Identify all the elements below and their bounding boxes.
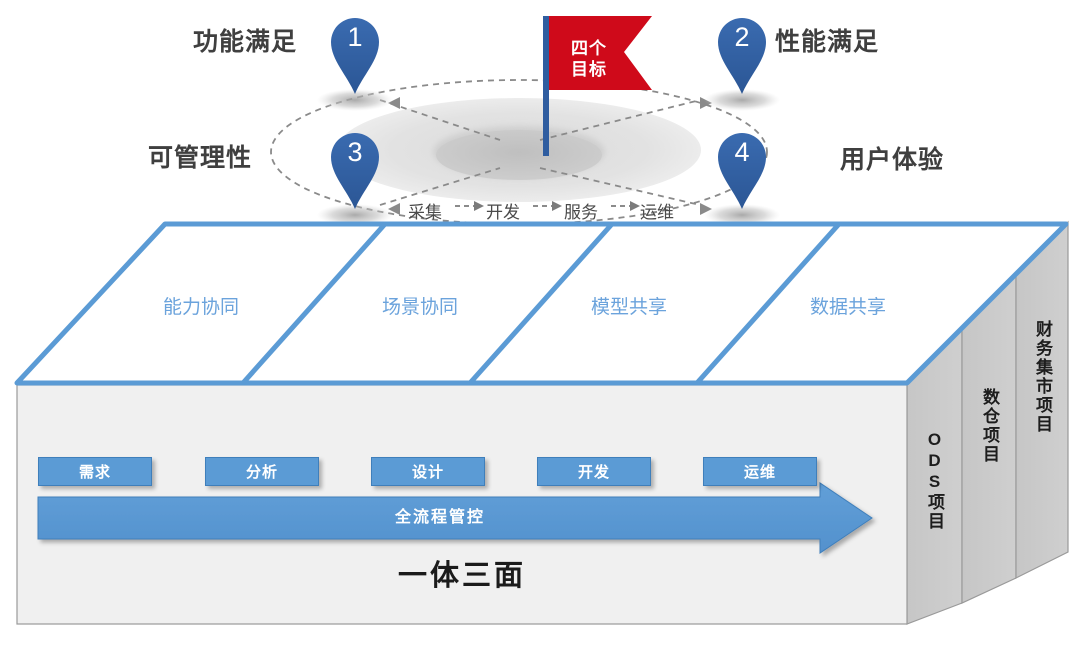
- flow-head-0: [474, 201, 484, 211]
- pin-number-4: 4: [718, 137, 766, 168]
- flag-pole: [543, 16, 549, 156]
- inner-disc: [436, 130, 602, 180]
- flag-label-line2: 目标: [560, 59, 618, 80]
- pin-number-1: 1: [331, 22, 379, 53]
- pin-number-3: 3: [331, 137, 379, 168]
- side-panel-label-datawarehouse: 数仓项目: [977, 388, 1002, 464]
- goal-label-functional: 功能满足: [193, 22, 297, 58]
- goal-label-manageability: 可管理性: [148, 138, 252, 174]
- flow-head-2: [630, 201, 640, 211]
- pin-number-2: 2: [718, 22, 766, 53]
- process-box-analysis[interactable]: 分析: [205, 457, 319, 486]
- flow-step-service: 服务: [564, 198, 598, 223]
- top-face-cell-data: 数据共享: [810, 292, 886, 319]
- process-box-requirement[interactable]: 需求: [38, 457, 152, 486]
- goal-label-performance: 性能满足: [775, 22, 879, 58]
- flag-icon-label: 四个 目标: [560, 38, 618, 80]
- diagram-canvas: 功能满足 性能满足 可管理性 用户体验 1 2 3 4 四个 目标 采集 开发 …: [0, 0, 1080, 651]
- flow-head-1: [552, 201, 562, 211]
- top-face-cell-capability: 能力协同: [163, 292, 239, 319]
- flag-label-line1: 四个: [560, 38, 618, 59]
- side-panel-label-finance-mart: 财务集市项目: [1030, 320, 1055, 434]
- map-pin-icon-4: 4: [718, 131, 766, 205]
- map-pin-icon-1: 1: [331, 16, 379, 90]
- top-face-cell-scenario: 场景协同: [382, 292, 458, 319]
- side-panel-label-ods: ODS项目: [922, 430, 947, 531]
- goal-label-user-experience: 用户体验: [840, 140, 944, 176]
- process-box-development[interactable]: 开发: [537, 457, 651, 486]
- center-disc-group: [337, 98, 701, 202]
- flow-step-develop: 开发: [486, 198, 520, 223]
- map-pin-icon-3: 3: [331, 131, 379, 205]
- page-title: 一体三面: [17, 552, 907, 594]
- flow-step-ops: 运维: [640, 198, 674, 223]
- flow-step-collect: 采集: [408, 198, 442, 223]
- map-pin-icon-2: 2: [718, 16, 766, 90]
- top-face-cell-model: 模型共享: [591, 292, 667, 319]
- process-box-operations[interactable]: 运维: [703, 457, 817, 486]
- full-process-arrow-label: 全流程管控: [30, 503, 850, 527]
- process-box-design[interactable]: 设计: [371, 457, 485, 486]
